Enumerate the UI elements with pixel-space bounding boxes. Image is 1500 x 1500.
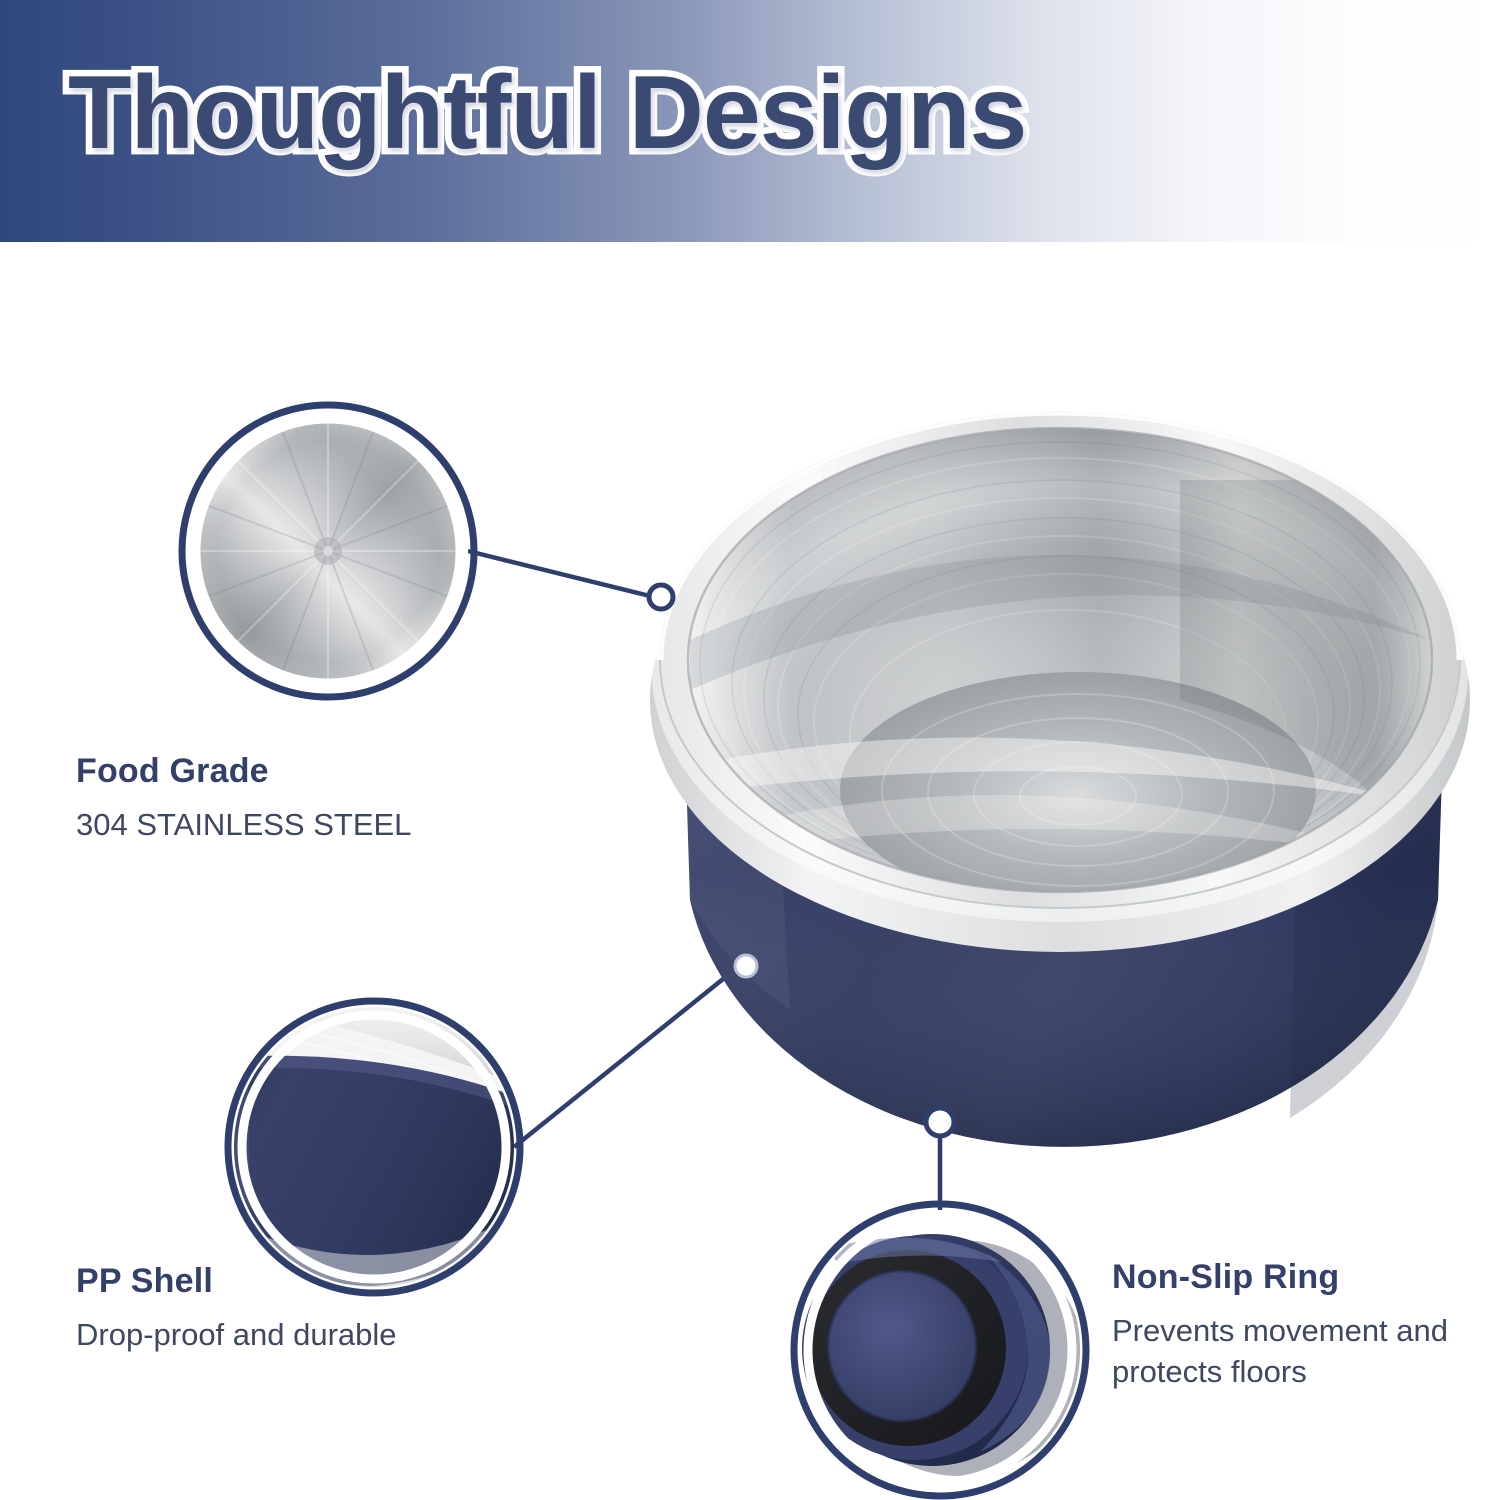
infographic-page: Thoughtful Designs — [0, 0, 1500, 1500]
feature-title: Non-Slip Ring — [1112, 1258, 1492, 1297]
connector-line-pp-shell — [514, 967, 738, 1147]
feature-description: 304 STAINLESS STEEL — [76, 805, 411, 846]
feature-title: Food Grade — [76, 752, 411, 791]
connector-line-food-grade — [468, 551, 650, 596]
callout-non-slip-ring — [794, 1204, 1086, 1496]
callout-pp-shell — [212, 1000, 524, 1293]
feature-pp-shell: PP Shell Drop-proof and durable — [76, 1262, 397, 1356]
feature-food-grade: Food Grade 304 STAINLESS STEEL — [76, 752, 411, 846]
anchor-dot-non-slip — [926, 1108, 954, 1136]
feature-description: Drop-proof and durable — [76, 1315, 397, 1356]
feature-non-slip-ring: Non-Slip Ring Prevents movement and prot… — [1112, 1258, 1492, 1393]
feature-title: PP Shell — [76, 1262, 397, 1301]
feature-description-line-2: protects floors — [1112, 1352, 1492, 1393]
bowl-product — [650, 412, 1470, 1147]
anchor-dot-pp-shell — [735, 955, 757, 977]
callout-food-grade — [182, 405, 474, 697]
feature-description-line-1: Prevents movement and — [1112, 1311, 1492, 1352]
anchor-dot-food-grade — [649, 585, 673, 609]
feature-description: Prevents movement and protects floors — [1112, 1311, 1492, 1393]
